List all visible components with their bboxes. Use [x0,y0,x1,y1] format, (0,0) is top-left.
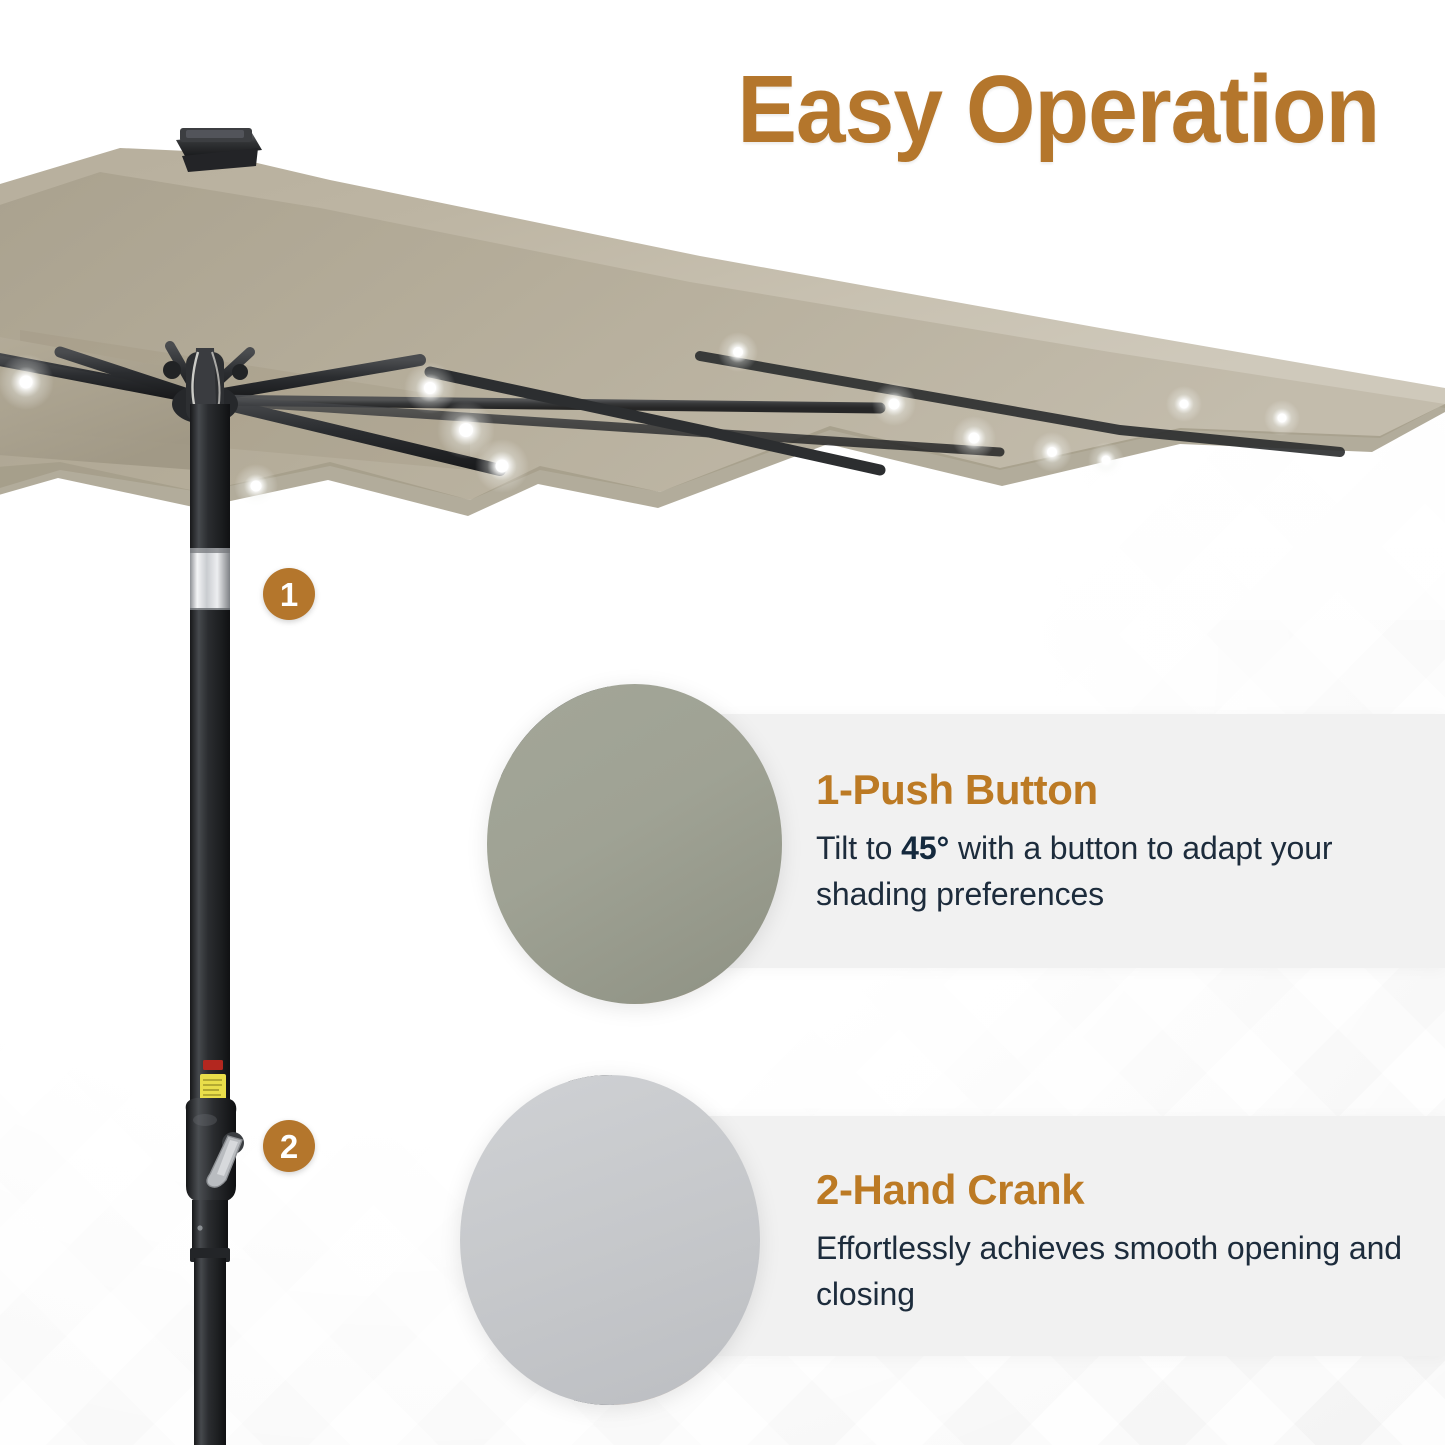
feature-photo-hand-crank [460,1075,760,1405]
feature-text-1: 1-Push Button Tilt to 45° with a button … [816,768,1416,917]
feature-body-2: Effortlessly achieves smooth opening and… [816,1226,1416,1317]
infographic-canvas: 1 2 Easy Operation 1-Push Button Tilt to… [0,0,1445,1445]
feature-photo-push-button [487,684,782,1004]
feature-body-1: Tilt to 45° with a button to adapt your … [816,826,1416,917]
warning-label [200,1074,226,1102]
feature-body-2-before: Effortlessly achieves smooth opening and… [816,1230,1402,1311]
feature-text-2: 2-Hand Crank Effortlessly achieves smoot… [816,1168,1416,1317]
step-badge-2: 2 [263,1120,315,1172]
page-title: Easy Operation [737,62,1379,158]
feature-body-1-emphasis: 45° [901,830,949,866]
feature-body-1-before: Tilt to [816,830,901,866]
feature-title-1: 1-Push Button [816,768,1416,812]
feature-title-2: 2-Hand Crank [816,1168,1416,1212]
step-badge-1: 1 [263,568,315,620]
